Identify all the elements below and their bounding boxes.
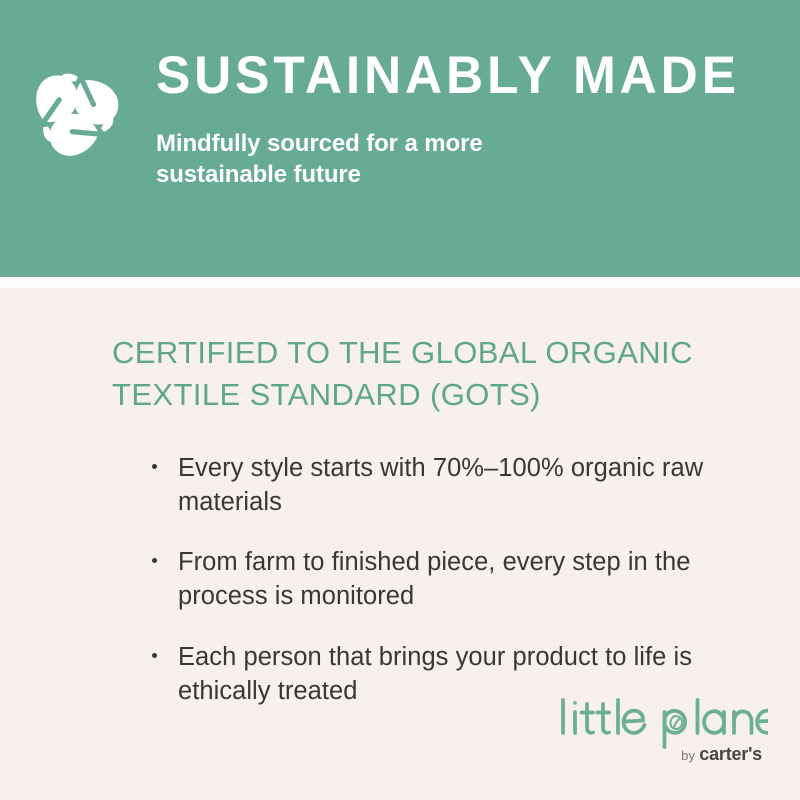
certification-heading: CERTIFIED TO THE GLOBAL ORGANIC TEXTILE …	[0, 288, 800, 417]
hero-subtitle-line-2: sustainable future	[156, 161, 361, 188]
list-item: From farm to finished piece, every step …	[145, 545, 718, 613]
brand-logo: bycarter's	[528, 697, 768, 764]
hero-title: SUSTAINABLY MADE	[156, 49, 740, 102]
benefits-list: Every style starts with 70%–100% organic…	[0, 417, 800, 708]
three-leaves-recycle-icon	[19, 56, 131, 168]
hero-subtitle: Mindfully sourced for a more sustainable…	[156, 102, 586, 190]
list-item-label: Every style starts with 70%–100% organic…	[178, 454, 703, 516]
hero-subtitle-line-1: Mindfully sourced for a more	[156, 130, 483, 157]
leaf-in-p-icon	[670, 716, 682, 729]
hero-icon-wrapper	[0, 47, 150, 168]
body-section: CERTIFIED TO THE GLOBAL ORGANIC TEXTILE …	[0, 288, 800, 800]
list-item-label: From farm to finished piece, every step …	[178, 548, 691, 610]
certification-heading-line-1: CERTIFIED TO THE GLOBAL ORGANIC	[112, 335, 693, 370]
bullet-dot-icon	[152, 558, 157, 563]
logo-wordmark	[558, 697, 768, 749]
bullet-dot-icon	[152, 653, 157, 658]
certification-heading-line-2: TEXTILE STANDARD (GOTS)	[112, 377, 541, 412]
list-item-label: Each person that brings your product to …	[178, 643, 692, 705]
hero-banner: SUSTAINABLY MADE Mindfully sourced for a…	[0, 0, 800, 277]
hero-text-block: SUSTAINABLY MADE Mindfully sourced for a…	[150, 47, 758, 190]
list-item: Every style starts with 70%–100% organic…	[145, 451, 718, 519]
band-separator	[0, 277, 800, 288]
sustainably-made-poster: SUSTAINABLY MADE Mindfully sourced for a…	[0, 0, 800, 800]
logo-by-label: by	[681, 748, 695, 763]
little-planet-wordmark-icon	[558, 697, 768, 749]
bullet-dot-icon	[152, 464, 157, 469]
